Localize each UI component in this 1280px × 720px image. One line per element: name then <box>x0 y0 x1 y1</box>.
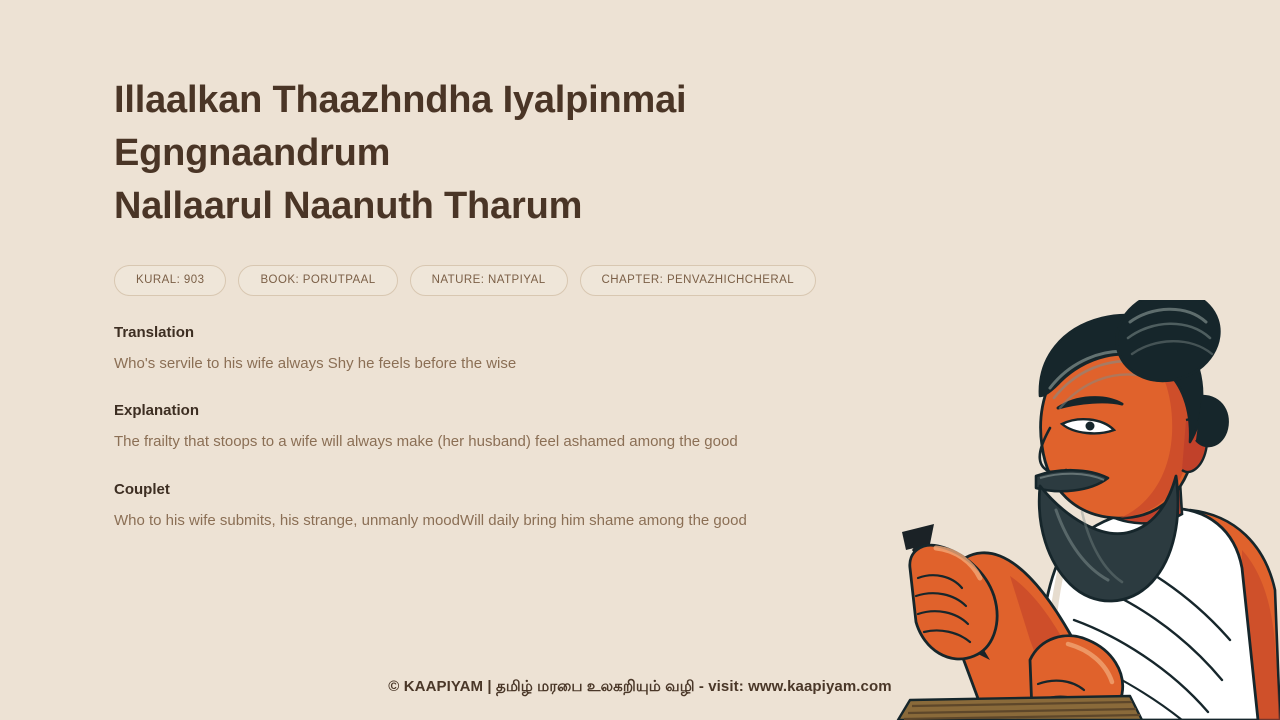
robe-fold-3 <box>1074 620 1208 712</box>
near-hand <box>910 545 997 659</box>
section-heading-translation: Translation <box>114 324 944 342</box>
section-explanation: Explanation The frailty that stoops to a… <box>114 402 944 453</box>
resting-hand-highlight <box>1068 644 1112 682</box>
kural-content: Illaalkan Thaazhndha Iyalpinmai Egngnaan… <box>114 74 944 532</box>
footer-credit: © KAAPIYAM | தமிழ் மரபை உலகறியும் வழி - … <box>0 678 1280 697</box>
section-heading-explanation: Explanation <box>114 402 944 420</box>
robe-fold-2 <box>1084 582 1222 680</box>
hair <box>1040 315 1202 442</box>
stylus-icon <box>902 524 990 660</box>
section-body-couplet: Who to his wife submits, his strange, un… <box>114 510 944 532</box>
hair-strand-2 <box>1054 361 1138 398</box>
section-body-explanation: The frailty that stoops to a wife will a… <box>114 431 944 453</box>
section-couplet: Couplet Who to his wife submits, his str… <box>114 481 944 532</box>
neck <box>1100 450 1182 523</box>
meta-pill-chapter[interactable]: CHAPTER: PENVAZHICHCHERAL <box>580 265 817 296</box>
manuscript-leaf-line-1 <box>912 702 1132 706</box>
resting-finger-2 <box>1042 697 1088 706</box>
moustache <box>1036 470 1108 491</box>
manuscript-leaf-line-2 <box>908 709 1136 713</box>
face-shade <box>1120 342 1191 518</box>
nose <box>1040 428 1066 473</box>
section-heading-couplet: Couplet <box>114 481 944 499</box>
finger-4 <box>924 630 970 642</box>
section-translation: Translation Who's servile to his wife al… <box>114 324 944 375</box>
bun-strand-3 <box>1132 341 1212 354</box>
hand-highlight <box>936 548 980 578</box>
beard <box>1039 476 1178 601</box>
meta-pill-nature[interactable]: NATURE: NATPIYAL <box>410 265 568 296</box>
beard-highlight-1 <box>1056 510 1108 580</box>
hair-strand-3 <box>1060 374 1144 408</box>
eyebrow <box>1058 398 1122 408</box>
stylus-tip <box>974 640 990 660</box>
pupil <box>1086 422 1095 431</box>
eye <box>1062 419 1114 433</box>
bun-strand-2 <box>1128 324 1210 338</box>
meta-pill-book[interactable]: BOOK: PORUTPAAL <box>238 265 397 296</box>
hair-strand-1 <box>1050 351 1132 388</box>
moustache-highlight <box>1040 474 1104 480</box>
meta-pill-kural[interactable]: KURAL: 903 <box>114 265 226 296</box>
manuscript-leaf-line-3 <box>904 715 1140 719</box>
kural-card: Illaalkan Thaazhndha Iyalpinmai Egngnaan… <box>0 0 1280 720</box>
robe-fold-1 <box>1096 546 1230 640</box>
kural-title-line-2: Nallaarul Naanuth Tharum <box>114 180 944 233</box>
thiruvalluvar-illustration <box>890 300 1280 720</box>
finger-2 <box>916 593 966 606</box>
beard-highlight-2 <box>1082 512 1122 582</box>
finger-1 <box>918 575 962 588</box>
hair-tuft <box>1196 396 1228 446</box>
kural-title-line-1: Illaalkan Thaazhndha Iyalpinmai Egngnaan… <box>114 74 944 180</box>
ear <box>1182 419 1207 472</box>
page-title: Illaalkan Thaazhndha Iyalpinmai Egngnaan… <box>114 74 944 234</box>
face <box>1041 334 1197 518</box>
stylus-shaft <box>912 542 986 652</box>
finger-3 <box>918 611 968 624</box>
section-body-translation: Who's servile to his wife always Shy he … <box>114 353 944 375</box>
manuscript-stack <box>898 696 1142 720</box>
hair-bun <box>1105 300 1231 394</box>
palm-leaf-manuscript <box>898 696 1142 720</box>
near-forearm-shade <box>1010 576 1098 720</box>
kural-meta-pills: KURAL: 903 BOOK: PORUTPAAL NATURE: NATPI… <box>114 265 944 296</box>
bun-strand-1 <box>1130 309 1206 322</box>
